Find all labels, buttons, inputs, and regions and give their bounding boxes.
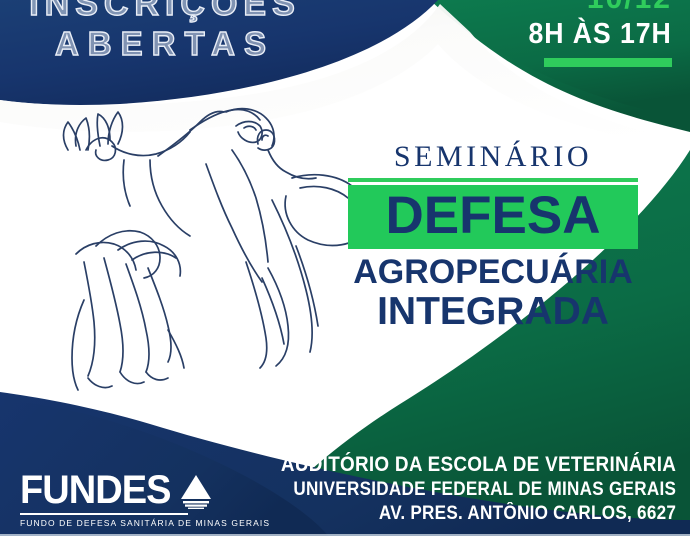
venue-line3: AV. PRES. ANTÔNIO CARLOS, 6627: [281, 502, 676, 526]
datetime-banner: 10/12 8H ÀS 17H: [516, 0, 672, 67]
fundesa-logo: FUNDES FUNDO DE DEFESA SANITÁRIA DE MINA…: [20, 470, 270, 528]
venue-block: AUDITÓRIO DA ESCOLA DE VETERINÁRIA UNIVE…: [237, 452, 676, 526]
logo-tagline: FUNDO DE DEFESA SANITÁRIA DE MINAS GERAI…: [20, 518, 270, 528]
title-highlight-word: DEFESA: [348, 187, 638, 245]
title-line3: INTEGRADA: [348, 291, 638, 333]
green-accent-bar: [544, 58, 672, 67]
registration-banner: INSCRIÇÕES ABERTAS: [0, 0, 330, 64]
title-eyebrow: SEMINÁRIO: [348, 140, 638, 174]
logo-underline: [20, 513, 188, 515]
title-divider-rule: [348, 178, 638, 182]
event-time: 8H ÀS 17H: [529, 16, 672, 52]
bottom-white-strip: [0, 536, 690, 550]
event-date: 10/12: [516, 0, 672, 16]
logo-wordmark: FUNDES: [20, 470, 171, 510]
fundesa-triangle-icon: [179, 473, 213, 509]
registration-line2: ABERTAS: [0, 24, 330, 64]
registration-line1: INSCRIÇÕES: [0, 0, 330, 24]
event-title-block: SEMINÁRIO DEFESA AGROPECUÁRIA INTEGRADA: [348, 140, 638, 333]
title-highlight-band: DEFESA: [348, 185, 638, 249]
venue-line1: AUDITÓRIO DA ESCOLA DE VETERINÁRIA: [281, 452, 676, 478]
poster-canvas: INSCRIÇÕES ABERTAS 10/12 8H ÀS 17H SEMIN…: [0, 0, 690, 550]
title-line2: AGROPECUÁRIA: [348, 253, 638, 291]
venue-line2: UNIVERSIDADE FEDERAL DE MINAS GERAIS: [281, 478, 676, 502]
